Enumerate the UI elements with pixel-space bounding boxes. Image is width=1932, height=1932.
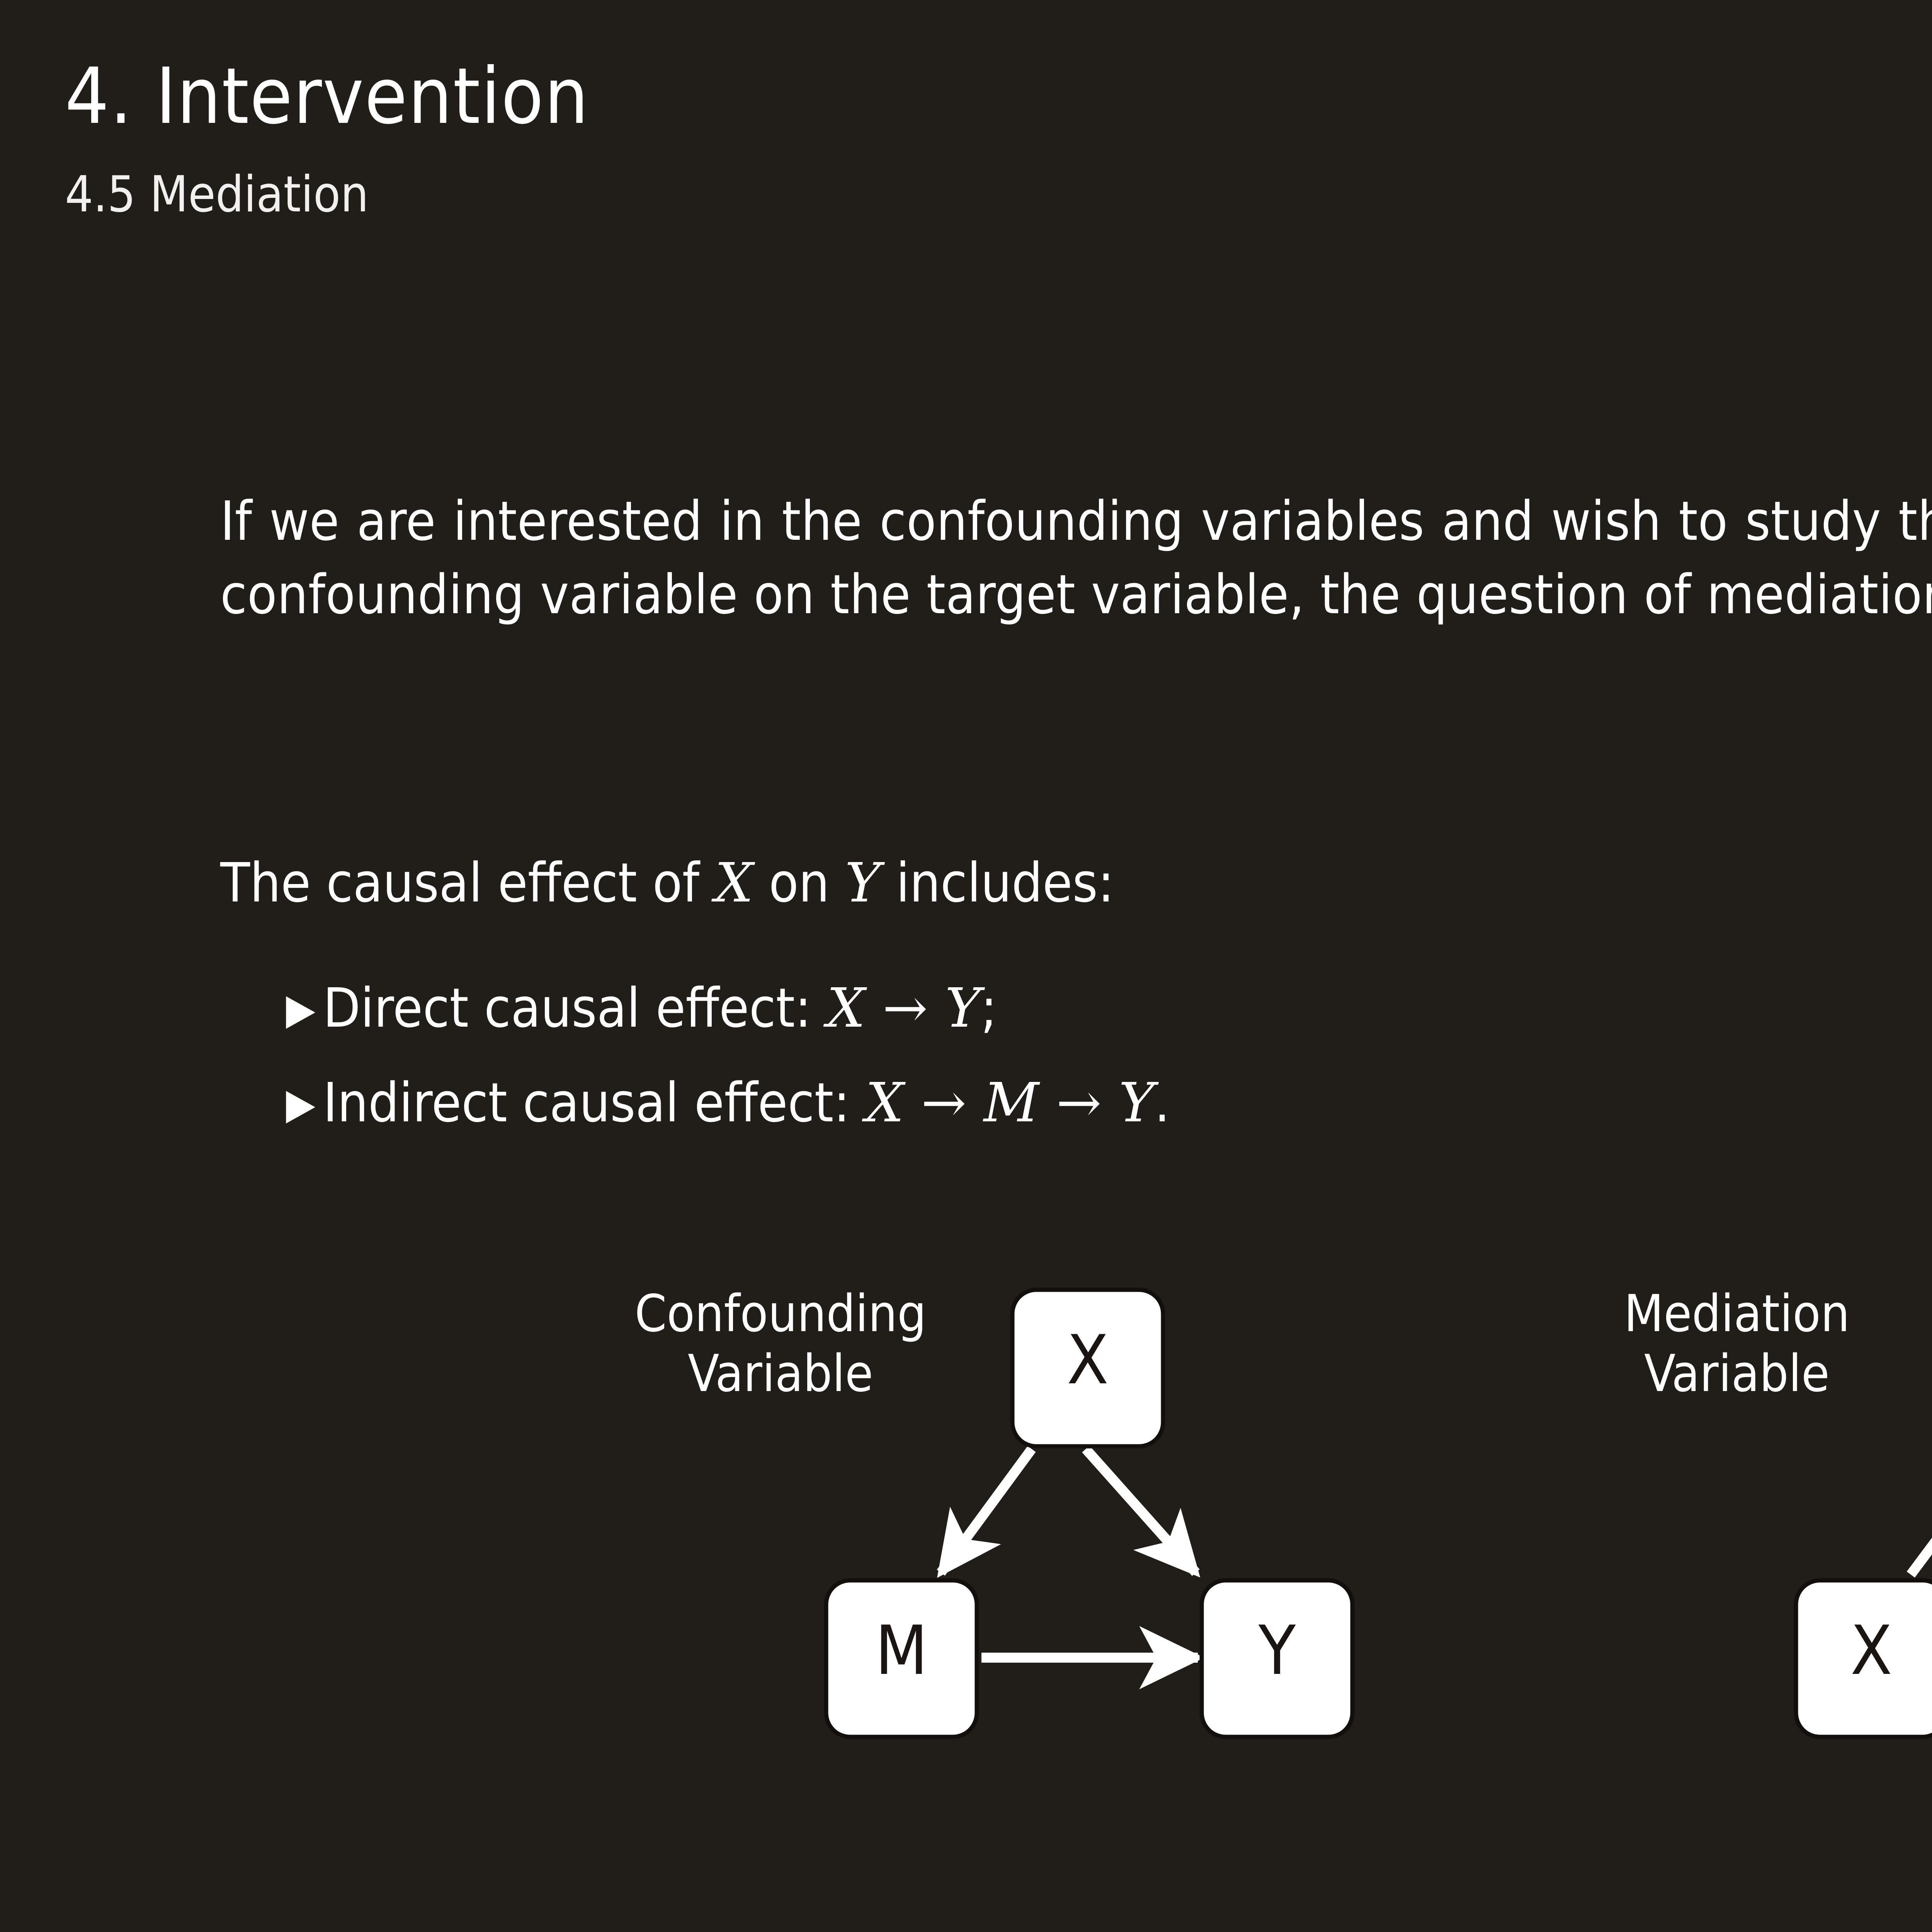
bullet-tail: . [1155, 1071, 1170, 1134]
diagram-caption-line2: Variable [1644, 1344, 1830, 1403]
lead-var-y: Y [845, 852, 881, 915]
node-left: M [826, 1580, 977, 1737]
bullet-formula: X → Y [827, 977, 981, 1040]
svg-text:M: M [875, 1612, 928, 1690]
lead-suffix: includes: [881, 852, 1114, 915]
lead-mid: on [753, 852, 845, 915]
bullet-label: Direct causal effect: [323, 977, 827, 1040]
bullet-formula: X → M → Y [866, 1071, 1155, 1134]
list-item: ▶ Indirect causal effect: X → M → Y. [286, 1068, 1932, 1138]
lead-var-x: X [715, 852, 753, 915]
diagram-caption-line1: Mediation [1624, 1284, 1850, 1344]
bullet-label: Indirect causal effect: [323, 1071, 866, 1134]
slide-canvas: 4. Intervention 4.5 Mediation [0, 0, 1932, 1932]
svg-text:X: X [1850, 1612, 1892, 1690]
bullet-list: ▶ Direct causal effect: X → Y; ▶ Indirec… [286, 974, 1932, 1163]
slide-header: 4. Intervention 4.5 Mediation [65, 58, 1920, 219]
svg-text:Y: Y [1258, 1612, 1296, 1690]
edge-top-to-right [1086, 1449, 1196, 1573]
bullet-text: Indirect causal effect: X → M → Y. [323, 1068, 1932, 1138]
triangle-right-icon: ▶ [286, 988, 323, 1030]
triangle-right-icon: ▶ [286, 1082, 323, 1125]
node-right: Y [1202, 1580, 1352, 1737]
node-left: X [1796, 1580, 1932, 1737]
diagram-caption-line1: Confounding [635, 1284, 927, 1344]
node-top: X [1012, 1290, 1163, 1446]
list-item: ▶ Direct causal effect: X → Y; [286, 974, 1932, 1043]
bullet-tail: ; [981, 977, 997, 1040]
diagram-area: Confounding Variable X M Y [0, 1271, 1932, 1812]
diagram-confounding: Confounding Variable X M Y [549, 1271, 1453, 1789]
edge-top-to-left [941, 1449, 1032, 1573]
lead-prefix: The causal effect of [220, 852, 715, 915]
svg-text:X: X [1067, 1321, 1109, 1400]
diagram-mediation: Mediation Variable M X Y [1519, 1271, 1932, 1789]
page-subtitle: 4.5 Mediation [65, 170, 1920, 219]
intro-paragraph: If we are interested in the confounding … [220, 485, 1932, 632]
bullet-text: Direct causal effect: X → Y; [323, 974, 1932, 1043]
edge-left-to-top [1911, 1453, 1932, 1575]
page-title: 4. Intervention [65, 58, 1920, 135]
diagram-caption-line2: Variable [688, 1344, 873, 1403]
lead-line: The causal effect of X on Y includes: [220, 848, 1932, 918]
